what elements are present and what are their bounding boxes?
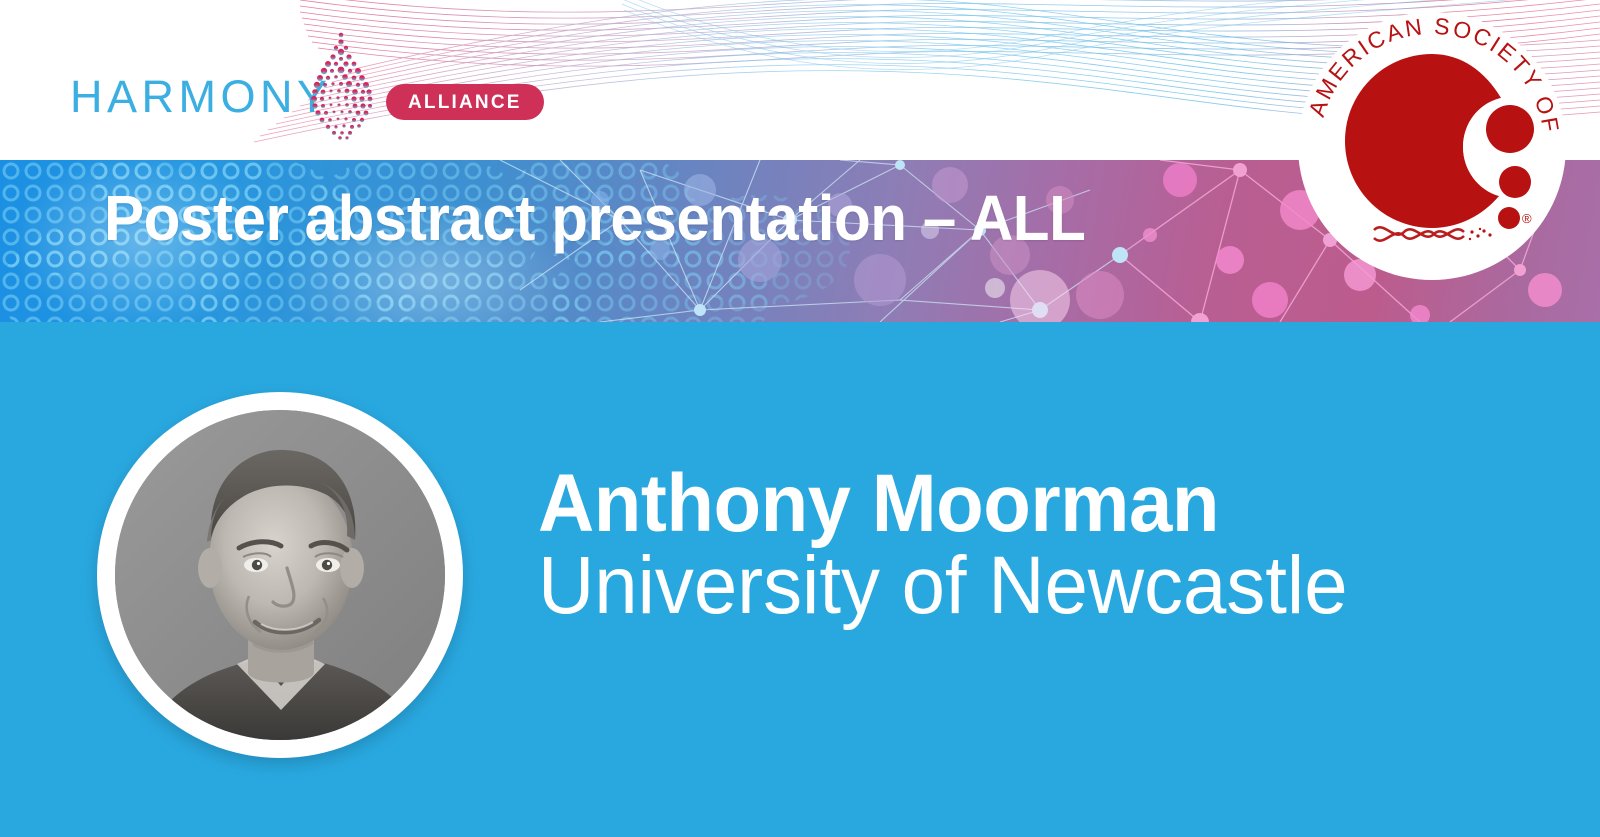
speaker-affiliation: University of Newcastle [538, 542, 1348, 631]
avatar [97, 392, 463, 758]
harmony-logo[interactable]: HARMONY [70, 74, 332, 119]
banner-title: Poster abstract presentation – ALL [104, 186, 1085, 250]
speaker-name: Anthony Moorman [538, 462, 1348, 546]
registered-mark: ® [1522, 211, 1532, 226]
american-society-of-hematology-logo[interactable]: AMERICAN SOCIETY OF HEMATOLOGY ® [1296, 10, 1568, 282]
harmony-wordmark: HARMONY [70, 74, 332, 119]
presentation-slide: Poster abstract presentation – ALL [0, 0, 1600, 837]
alliance-badge[interactable]: ALLIANCE [386, 84, 544, 120]
speaker-portrait [115, 410, 445, 740]
speaker-info: Anthony Moorman University of Newcastle [538, 462, 1390, 630]
blood-drop-dots-icon [296, 28, 386, 144]
alliance-label: ALLIANCE [408, 93, 522, 112]
